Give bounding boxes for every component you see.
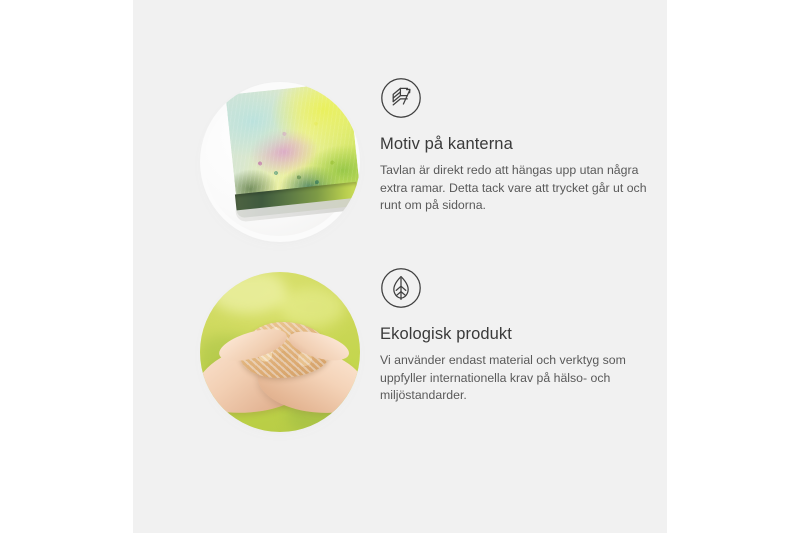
feature-title: Motiv på kanterna: [380, 135, 660, 155]
wrapped-canvas-edge-icon: [380, 77, 422, 119]
feature-description: Vi använder endast material och verktyg …: [380, 352, 650, 405]
feature-text-ekologisk-produkt: Ekologisk produkt Vi använder endast mat…: [380, 267, 660, 405]
canvas-corner-photo: [200, 82, 360, 242]
feature-block-ekologisk-produkt: Ekologisk produkt Vi använder endast mat…: [133, 267, 667, 447]
photo-circle: [200, 272, 360, 432]
feature-description: Tavlan är direkt redo att hängas upp uta…: [380, 162, 650, 215]
photo-circle: [200, 82, 360, 242]
feature-block-motiv-pa-kanterna: Motiv på kanterna Tavlan är direkt redo …: [133, 77, 667, 257]
feature-text-motiv-pa-kanterna: Motiv på kanterna Tavlan är direkt redo …: [380, 77, 660, 215]
canvas-block: [225, 82, 360, 226]
feature-title: Ekologisk produkt: [380, 325, 660, 345]
leaf-icon: [380, 267, 422, 309]
content-panel: Motiv på kanterna Tavlan är direkt redo …: [133, 0, 667, 533]
product-feature-infographic: Motiv på kanterna Tavlan är direkt redo …: [0, 0, 800, 533]
hands-holding-wood-chips-photo: [200, 272, 360, 432]
